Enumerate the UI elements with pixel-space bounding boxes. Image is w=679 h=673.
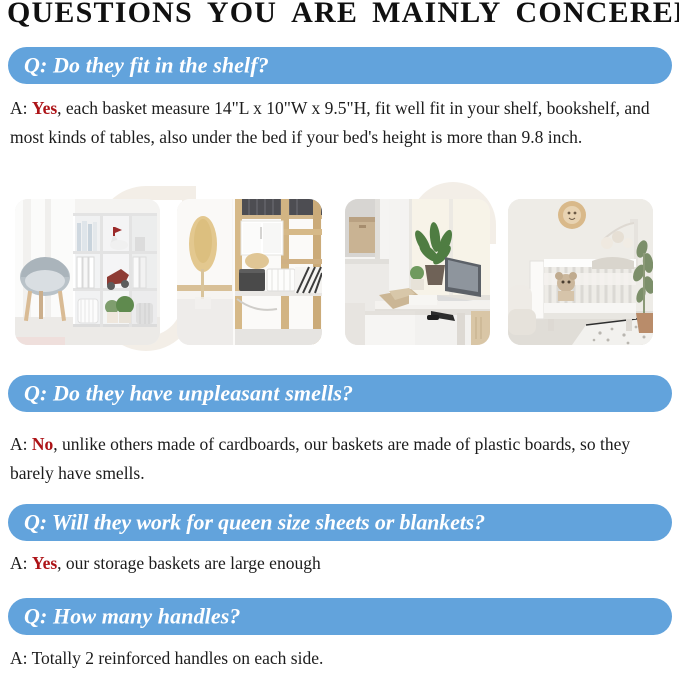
photo-card-desk [345, 199, 490, 345]
question-text: Q: How many handles? [24, 603, 241, 629]
page-title-word: MAINLY [372, 0, 501, 29]
answer-text-4: A: Totally 2 reinforced handles on each … [10, 644, 675, 673]
photo-nursery-illustration [508, 199, 653, 345]
photo-bookshelf-illustration [15, 199, 160, 345]
page-title: QUESTIONSYOUAREMAINLYCONCERED [0, 0, 679, 30]
answer-prefix: A: [10, 434, 32, 454]
question-text: Q: Do they have unpleasant smells? [24, 380, 353, 406]
answer-text-2: A: No, unlike others made of cardboards,… [10, 430, 675, 488]
answer-body: , our storage baskets are large enough [57, 553, 321, 573]
question-banner-4: Q: How many handles? [8, 598, 672, 635]
photo-card-nursery [508, 199, 653, 345]
photo-desk-illustration [345, 199, 490, 345]
photo-card-bookshelf [15, 199, 160, 345]
page-title-word: YOU [207, 0, 277, 29]
question-banner-1: Q: Do they fit in the shelf? [8, 47, 672, 84]
question-banner-2: Q: Do they have unpleasant smells? [8, 375, 672, 412]
page-title-word: ARE [291, 0, 358, 29]
page-title-word: CONCERED [516, 0, 679, 29]
answer-prefix: A: [10, 553, 32, 573]
answer-body: , unlike others made of cardboards, our … [10, 434, 630, 483]
answer-prefix: A: [10, 98, 32, 118]
answer-body: Totally 2 reinforced handles on each sid… [32, 648, 324, 668]
photo-gallery [0, 199, 679, 345]
answer-accent: Yes [32, 98, 57, 118]
page-title-word: QUESTIONS [7, 0, 193, 29]
answer-text-3: A: Yes, our storage baskets are large en… [10, 549, 675, 578]
photo-card-loft-bed [177, 199, 322, 345]
answer-text-1: A: Yes, each basket measure 14"L x 10"W … [10, 94, 675, 152]
answer-accent: Yes [32, 553, 57, 573]
question-banner-3: Q: Will they work for queen size sheets … [8, 504, 672, 541]
answer-prefix: A: [10, 648, 32, 668]
answer-accent: No [32, 434, 53, 454]
question-text: Q: Will they work for queen size sheets … [24, 509, 485, 535]
answer-body: , each basket measure 14"L x 10"W x 9.5"… [10, 98, 650, 147]
photo-loft-bed-illustration [177, 199, 322, 345]
question-text: Q: Do they fit in the shelf? [24, 52, 269, 78]
